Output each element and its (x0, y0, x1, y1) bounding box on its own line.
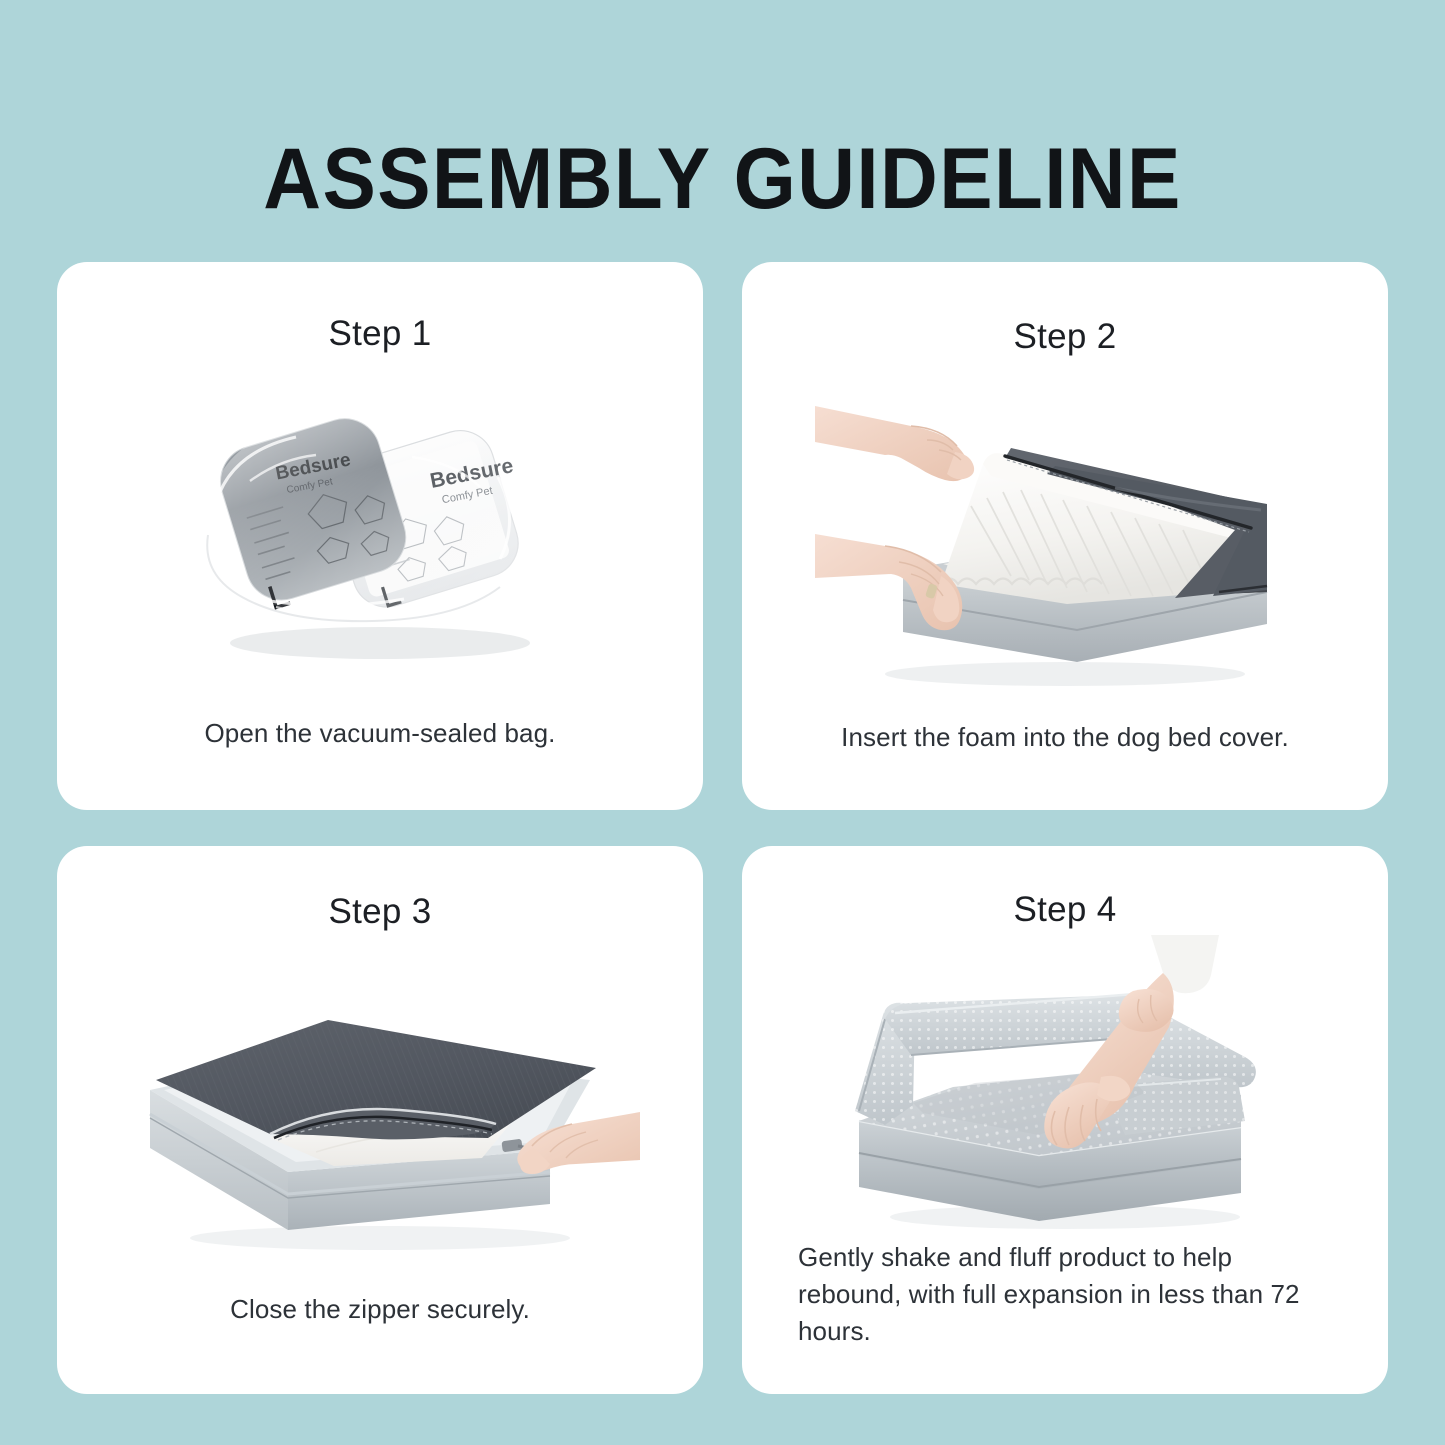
hand-lower (815, 534, 962, 630)
page-title: ASSEMBLY GUIDELINE (51, 136, 1395, 222)
step-2-label: Step 2 (742, 317, 1388, 357)
step-4-illustration (742, 930, 1388, 1239)
step-1-illustration: Bedsure Comfy Pet (57, 354, 703, 715)
step-4-caption: Gently shake and fluff product to help r… (742, 1239, 1388, 1350)
step-1-label: Step 1 (57, 314, 703, 354)
step-2-caption: Insert the foam into the dog bed cover. (742, 719, 1388, 756)
fluff-finished-bed-icon (825, 935, 1305, 1235)
assembly-guideline-page: ASSEMBLY GUIDELINE Step 1 (0, 0, 1445, 1445)
steps-grid: Step 1 (57, 262, 1388, 1394)
step-3-illustration (57, 932, 703, 1291)
step-2-illustration (742, 357, 1388, 719)
insert-foam-into-cover-icon (815, 378, 1315, 698)
step-1-caption: Open the vacuum-sealed bag. (57, 715, 703, 752)
step-4-label: Step 4 (742, 890, 1388, 930)
step-card-1: Step 1 (57, 262, 703, 810)
hand-upper (815, 406, 974, 481)
step-3-label: Step 3 (57, 892, 703, 932)
step-3-caption: Close the zipper securely. (57, 1291, 703, 1328)
close-zipper-icon (120, 962, 640, 1262)
vacuum-sealed-bags-icon: Bedsure Comfy Pet (180, 385, 580, 685)
step-card-4: Step 4 (742, 846, 1388, 1394)
step-card-2: Step 2 (742, 262, 1388, 810)
step-card-3: Step 3 (57, 846, 703, 1394)
